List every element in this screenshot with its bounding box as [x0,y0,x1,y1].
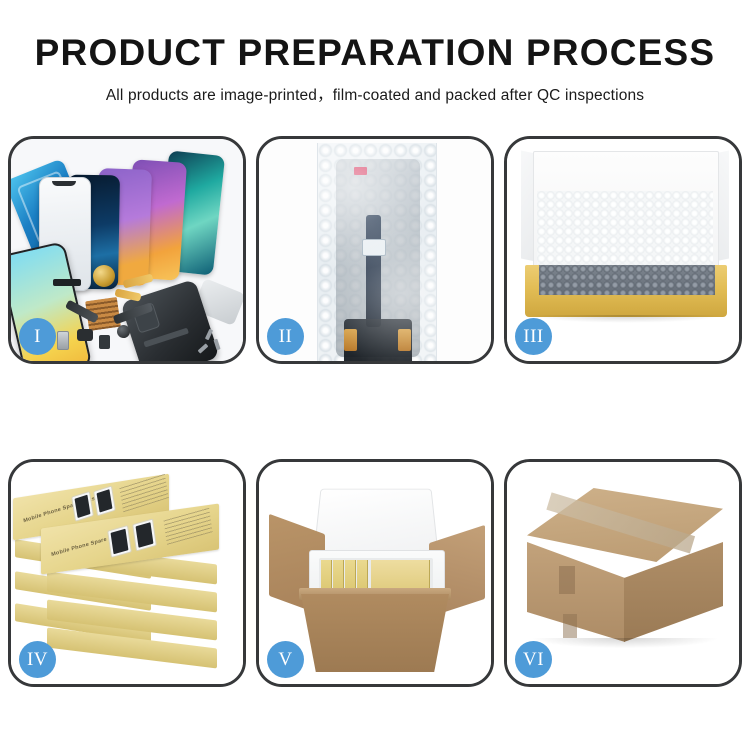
page-title: PRODUCT PREPARATION PROCESS [0,34,750,73]
gold-contact-left [344,329,357,351]
carton-body [301,594,449,672]
camera-module-part [117,325,130,338]
page-subtitle: All products are image-printed，film-coat… [0,83,750,105]
step-badge-6: VI [515,641,552,678]
step-panel-6: VI [504,459,742,687]
step-badge-5: V [267,641,304,678]
product-preparation-infographic: PRODUCT PREPARATION PROCESS All products… [0,0,750,750]
vibrator-part [99,335,110,349]
lcd-driver-chip [362,239,386,256]
carton-tab-1 [559,566,575,594]
step-badge-3: III [515,318,552,355]
box-thumbnail-4 [132,518,157,551]
carton-drop-shadow [533,638,717,648]
white-foam-sheet [537,191,713,269]
step-panel-5: V [256,459,494,687]
step-panel-3: III [504,136,742,364]
step-panel-2: II [256,136,494,364]
carton-tab-2 [563,614,577,638]
lcd-flex-ribbon [366,215,381,327]
box-spec-lines-front [163,507,212,545]
step-badge-4: IV [19,641,56,678]
battery-connector-part [57,331,69,350]
step-badge-1: I [19,318,56,355]
step-badge-2: II [267,318,304,355]
box-thumbnail-3 [107,525,132,558]
box-drop-shadow [529,315,723,323]
speaker-part [77,329,93,341]
gray-bubble-contents [539,265,715,295]
red-qc-label [354,167,367,175]
box-spec-lines-back [119,473,169,512]
box-thumbnail-1 [71,491,94,522]
box-thumbnail-2 [93,485,116,516]
copper-coil-part [93,265,115,287]
gold-contact-right [398,329,411,351]
foam-cooler-lid [313,489,439,558]
header: PRODUCT PREPARATION PROCESS All products… [0,0,750,105]
earpiece-mesh-part [53,279,81,286]
step-panel-4: Mobile Phone Spare Parts Mobile Phone Sp… [8,459,246,687]
steps-grid: I II [8,136,742,696]
step-panel-1: I [8,136,246,364]
bubble-wrap-bag [317,143,437,361]
